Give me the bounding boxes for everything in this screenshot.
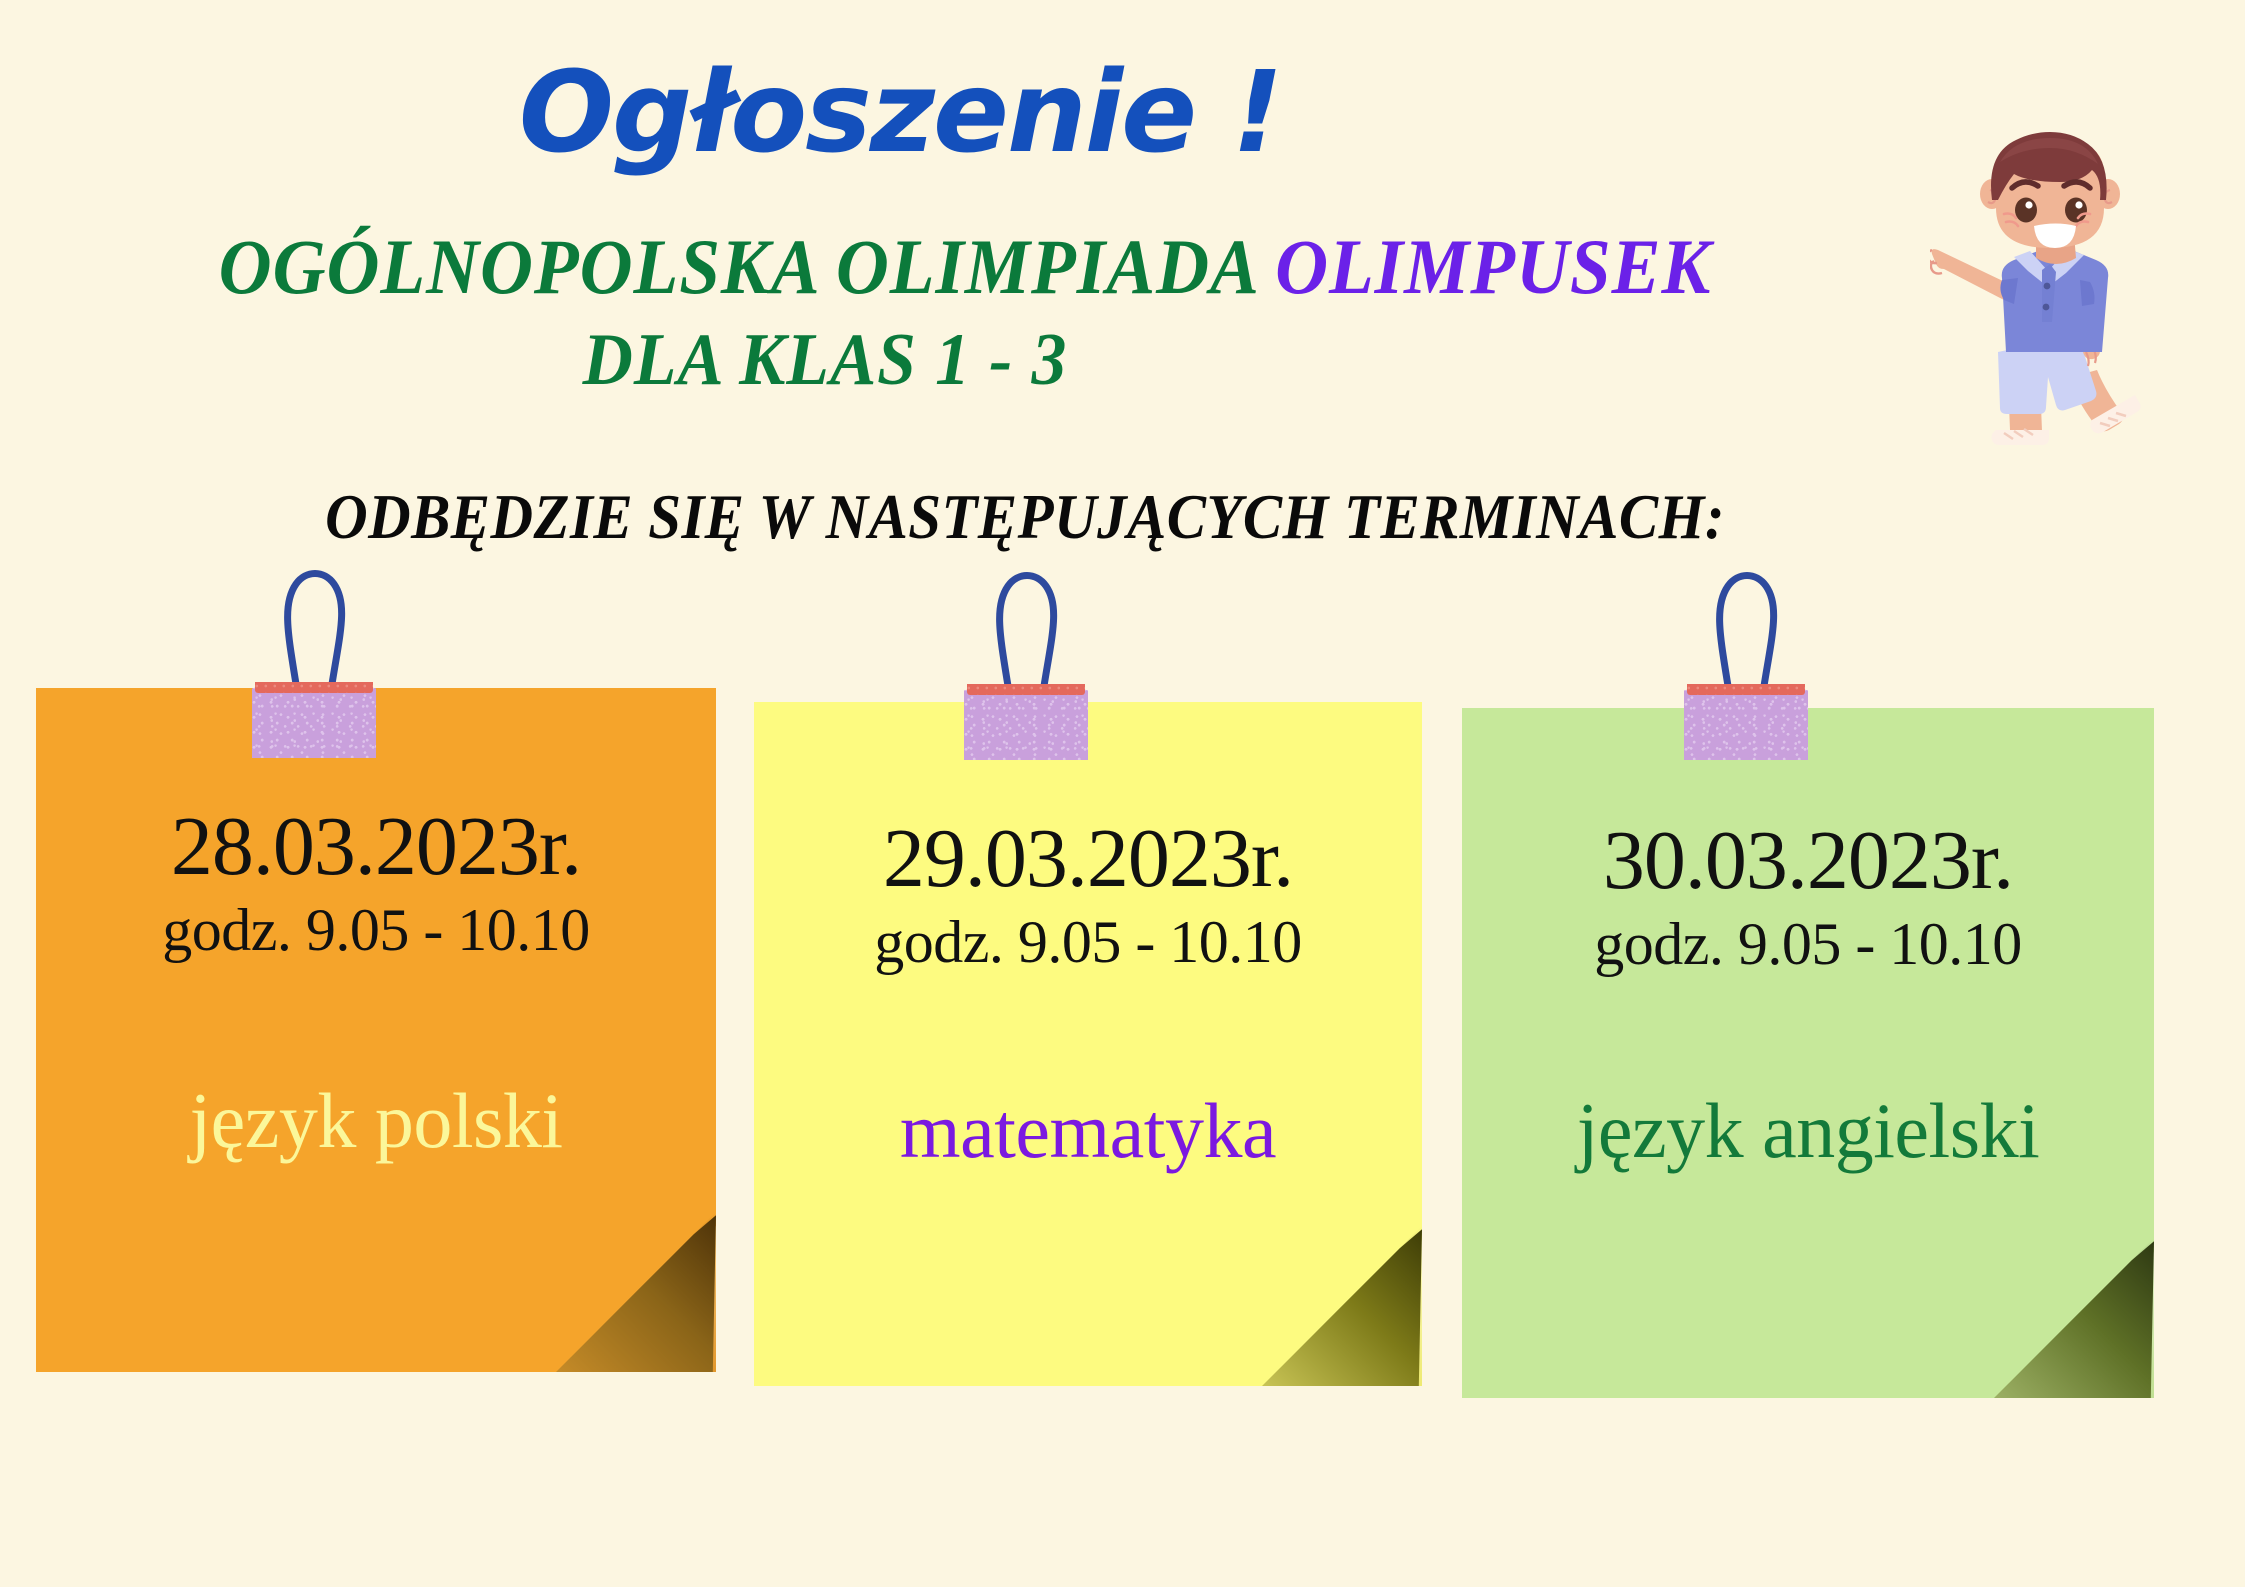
binder-clip-edge: [1687, 684, 1805, 695]
binder-clip-texture: [964, 686, 1088, 760]
binder-clip-wire: [266, 564, 362, 684]
binder-clip-texture: [1684, 686, 1808, 760]
binder-clip-wire: [1698, 566, 1794, 686]
note-card-math-date: 29.03.2023r.: [754, 810, 1422, 907]
binder-clip-wire: [978, 566, 1074, 686]
note-card-polish[interactable]: 28.03.2023r. godz. 9.05 - 10.10 język po…: [36, 688, 716, 1372]
binder-clip-body: [1684, 686, 1808, 760]
subtitle-line-1: OGÓLNOPOLSKA OLIMPIADA OLIMPUSEK: [58, 222, 1872, 312]
subtitle-olympiad-text: OGÓLNOPOLSKA OLIMPIADA: [219, 223, 1275, 310]
note-card-english[interactable]: 30.03.2023r. godz. 9.05 - 10.10 język an…: [1462, 708, 2154, 1398]
note-card-math-time: godz. 9.05 - 10.10: [754, 908, 1422, 977]
binder-clip-texture: [252, 684, 376, 758]
note-card-english-time: godz. 9.05 - 10.10: [1462, 910, 2154, 979]
note-card-math-surface: 29.03.2023r. godz. 9.05 - 10.10 matematy…: [754, 702, 1422, 1386]
binder-clip-body: [252, 684, 376, 758]
subtitle-line-2: DLA KLAS 1 - 3: [50, 318, 1601, 403]
note-card-english-subject: język angielski: [1462, 1086, 2154, 1176]
announcement-poster: Ogłoszenie ! OGÓLNOPOLSKA OLIMPIADA OLIM…: [0, 0, 2245, 1587]
note-card-english-date: 30.03.2023r.: [1462, 812, 2154, 909]
note-card-polish-date: 28.03.2023r.: [36, 798, 716, 895]
binder-clip-edge: [255, 682, 373, 693]
binder-clip-body: [964, 686, 1088, 760]
dates-intro-text: ODBĘDZIE SIĘ W NASTĘPUJĄCYCH TERMINACH:: [82, 480, 1968, 554]
note-card-polish-surface: 28.03.2023r. godz. 9.05 - 10.10 język po…: [36, 688, 716, 1372]
subtitle-olimpusek-text: OLIMPUSEK: [1275, 223, 1711, 310]
note-card-english-surface: 30.03.2023r. godz. 9.05 - 10.10 język an…: [1462, 708, 2154, 1398]
pointing-boy-illustration: [1930, 130, 2230, 460]
binder-clip-edge: [967, 684, 1085, 695]
note-card-math[interactable]: 29.03.2023r. godz. 9.05 - 10.10 matematy…: [754, 702, 1422, 1386]
note-card-polish-time: godz. 9.05 - 10.10: [36, 896, 716, 965]
note-card-math-subject: matematyka: [754, 1086, 1422, 1176]
page-title: Ogłoszenie !: [0, 48, 1800, 178]
note-card-polish-subject: język polski: [36, 1076, 716, 1166]
